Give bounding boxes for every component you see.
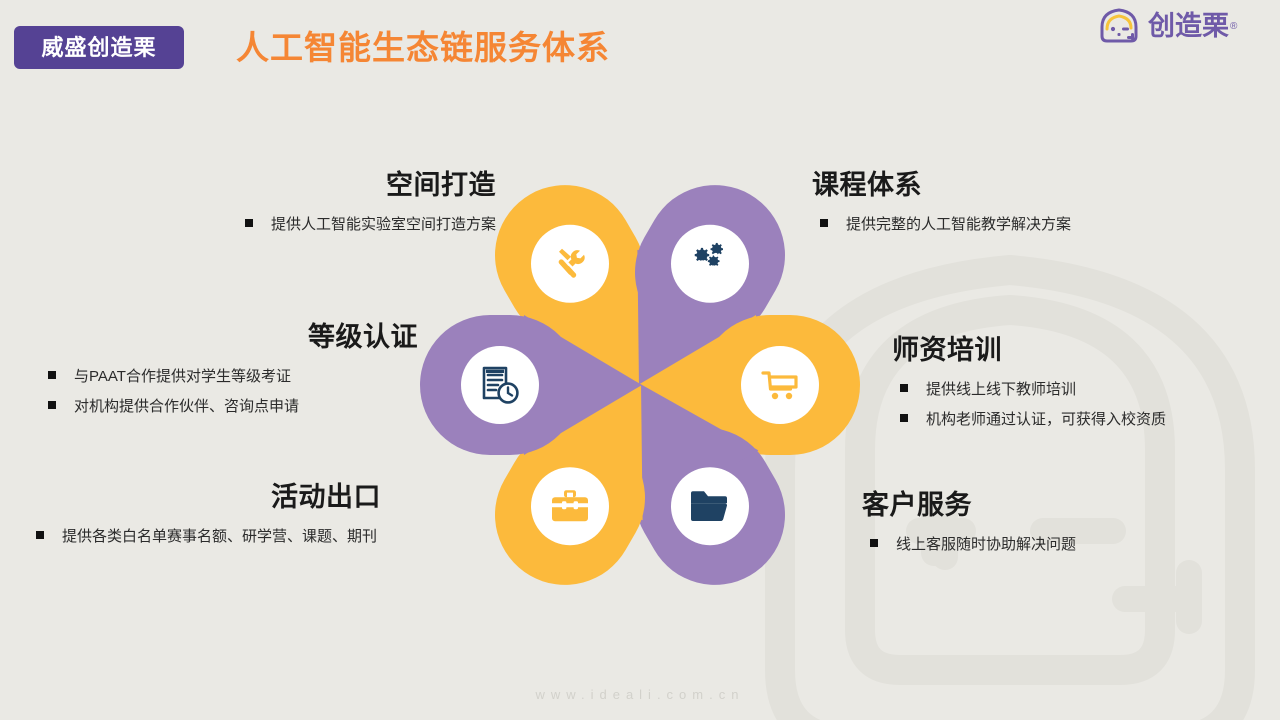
list-item-text: 提供完整的人工智能教学解决方案 — [846, 210, 1071, 240]
block-customer-service: 客户服务 线上客服随时协助解决问题 — [862, 488, 1262, 560]
list-item-text: 提供线上线下教师培训 — [926, 375, 1076, 405]
block-title-customer-service: 客户服务 — [862, 488, 1262, 522]
page-title: 人工智能生态链服务体系 — [236, 28, 610, 68]
document-clock-icon — [480, 364, 520, 406]
bullet-list-course-system: 提供完整的人工智能教学解决方案 — [812, 210, 1232, 240]
list-item-text: 提供各类白名单赛事名额、研学营、课题、期刊 — [62, 522, 377, 552]
bullet-square-icon — [36, 531, 44, 539]
list-item-text: 线上客服随时协助解决问题 — [896, 530, 1076, 560]
bullet-list-space-building: 提供人工智能实验室空间打造方案 — [96, 210, 496, 240]
list-item-text: 提供人工智能实验室空间打造方案 — [271, 210, 496, 240]
bullet-square-icon — [900, 414, 908, 422]
block-title-course-system: 课程体系 — [812, 168, 1232, 202]
brand-badge-label: 威盛创造栗 — [41, 37, 156, 59]
brand-badge: 威盛创造栗 — [14, 26, 184, 69]
block-activity-outlet: 活动出口 提供各类白名单赛事名额、研学营、课题、期刊 — [36, 480, 491, 552]
block-title-teacher-training: 师资培训 — [892, 333, 1280, 367]
list-item: 提供各类白名单赛事名额、研学营、课题、期刊 — [36, 522, 491, 552]
list-item: 提供线上线下教师培训 — [900, 375, 1280, 405]
bullet-square-icon — [48, 401, 56, 409]
block-title-level-certification: 等级认证 — [48, 320, 418, 354]
brand-trademark-symbol: ® — [1230, 21, 1237, 32]
bullet-square-icon — [48, 371, 56, 379]
block-course-system: 课程体系 提供完整的人工智能教学解决方案 — [812, 168, 1232, 240]
brand-logo-text: 创造栗 — [1148, 13, 1229, 40]
brand-logo: 创造栗 ® — [1096, 5, 1266, 47]
list-item: 对机构提供合作伙伴、咨询点申请 — [48, 392, 418, 422]
block-teacher-training: 师资培训 提供线上线下教师培训 机构老师通过认证，可获得入校资质 — [892, 333, 1280, 435]
slide-canvas: 威盛创造栗 人工智能生态链服务体系 创造栗 ® 空间打造 提供人工智能实验室空间… — [0, 0, 1280, 720]
petal-icon-circle — [461, 346, 539, 424]
block-space-building: 空间打造 提供人工智能实验室空间打造方案 — [96, 168, 496, 240]
bullet-list-teacher-training: 提供线上线下教师培训 机构老师通过认证，可获得入校资质 — [892, 375, 1280, 435]
block-title-activity-outlet: 活动出口 — [36, 480, 491, 514]
bullet-list-level-certification: 与PAAT合作提供对学生等级考证 对机构提供合作伙伴、咨询点申请 — [48, 362, 418, 422]
list-item: 线上客服随时协助解决问题 — [870, 530, 1262, 560]
list-item-text: 对机构提供合作伙伴、咨询点申请 — [74, 392, 299, 422]
bullet-square-icon — [245, 219, 253, 227]
bullet-square-icon — [820, 219, 828, 227]
list-item: 与PAAT合作提供对学生等级考证 — [48, 362, 418, 392]
block-level-certification: 等级认证 与PAAT合作提供对学生等级考证 对机构提供合作伙伴、咨询点申请 — [48, 320, 418, 422]
list-item-text: 机构老师通过认证，可获得入校资质 — [926, 405, 1166, 435]
list-item: 机构老师通过认证，可获得入校资质 — [900, 405, 1280, 435]
list-item-text: 与PAAT合作提供对学生等级考证 — [74, 362, 291, 392]
footer-website-url: www.ideali.com.cn — [0, 687, 1280, 702]
chestnut-mark-icon — [1096, 7, 1142, 45]
list-item: 提供完整的人工智能教学解决方案 — [820, 210, 1232, 240]
list-item: 提供人工智能实验室空间打造方案 — [96, 210, 496, 240]
bullet-list-activity-outlet: 提供各类白名单赛事名额、研学营、课题、期刊 — [36, 522, 491, 552]
bullet-square-icon — [870, 539, 878, 547]
bullet-list-customer-service: 线上客服随时协助解决问题 — [862, 530, 1262, 560]
block-title-space-building: 空间打造 — [96, 168, 496, 202]
bullet-square-icon — [900, 384, 908, 392]
